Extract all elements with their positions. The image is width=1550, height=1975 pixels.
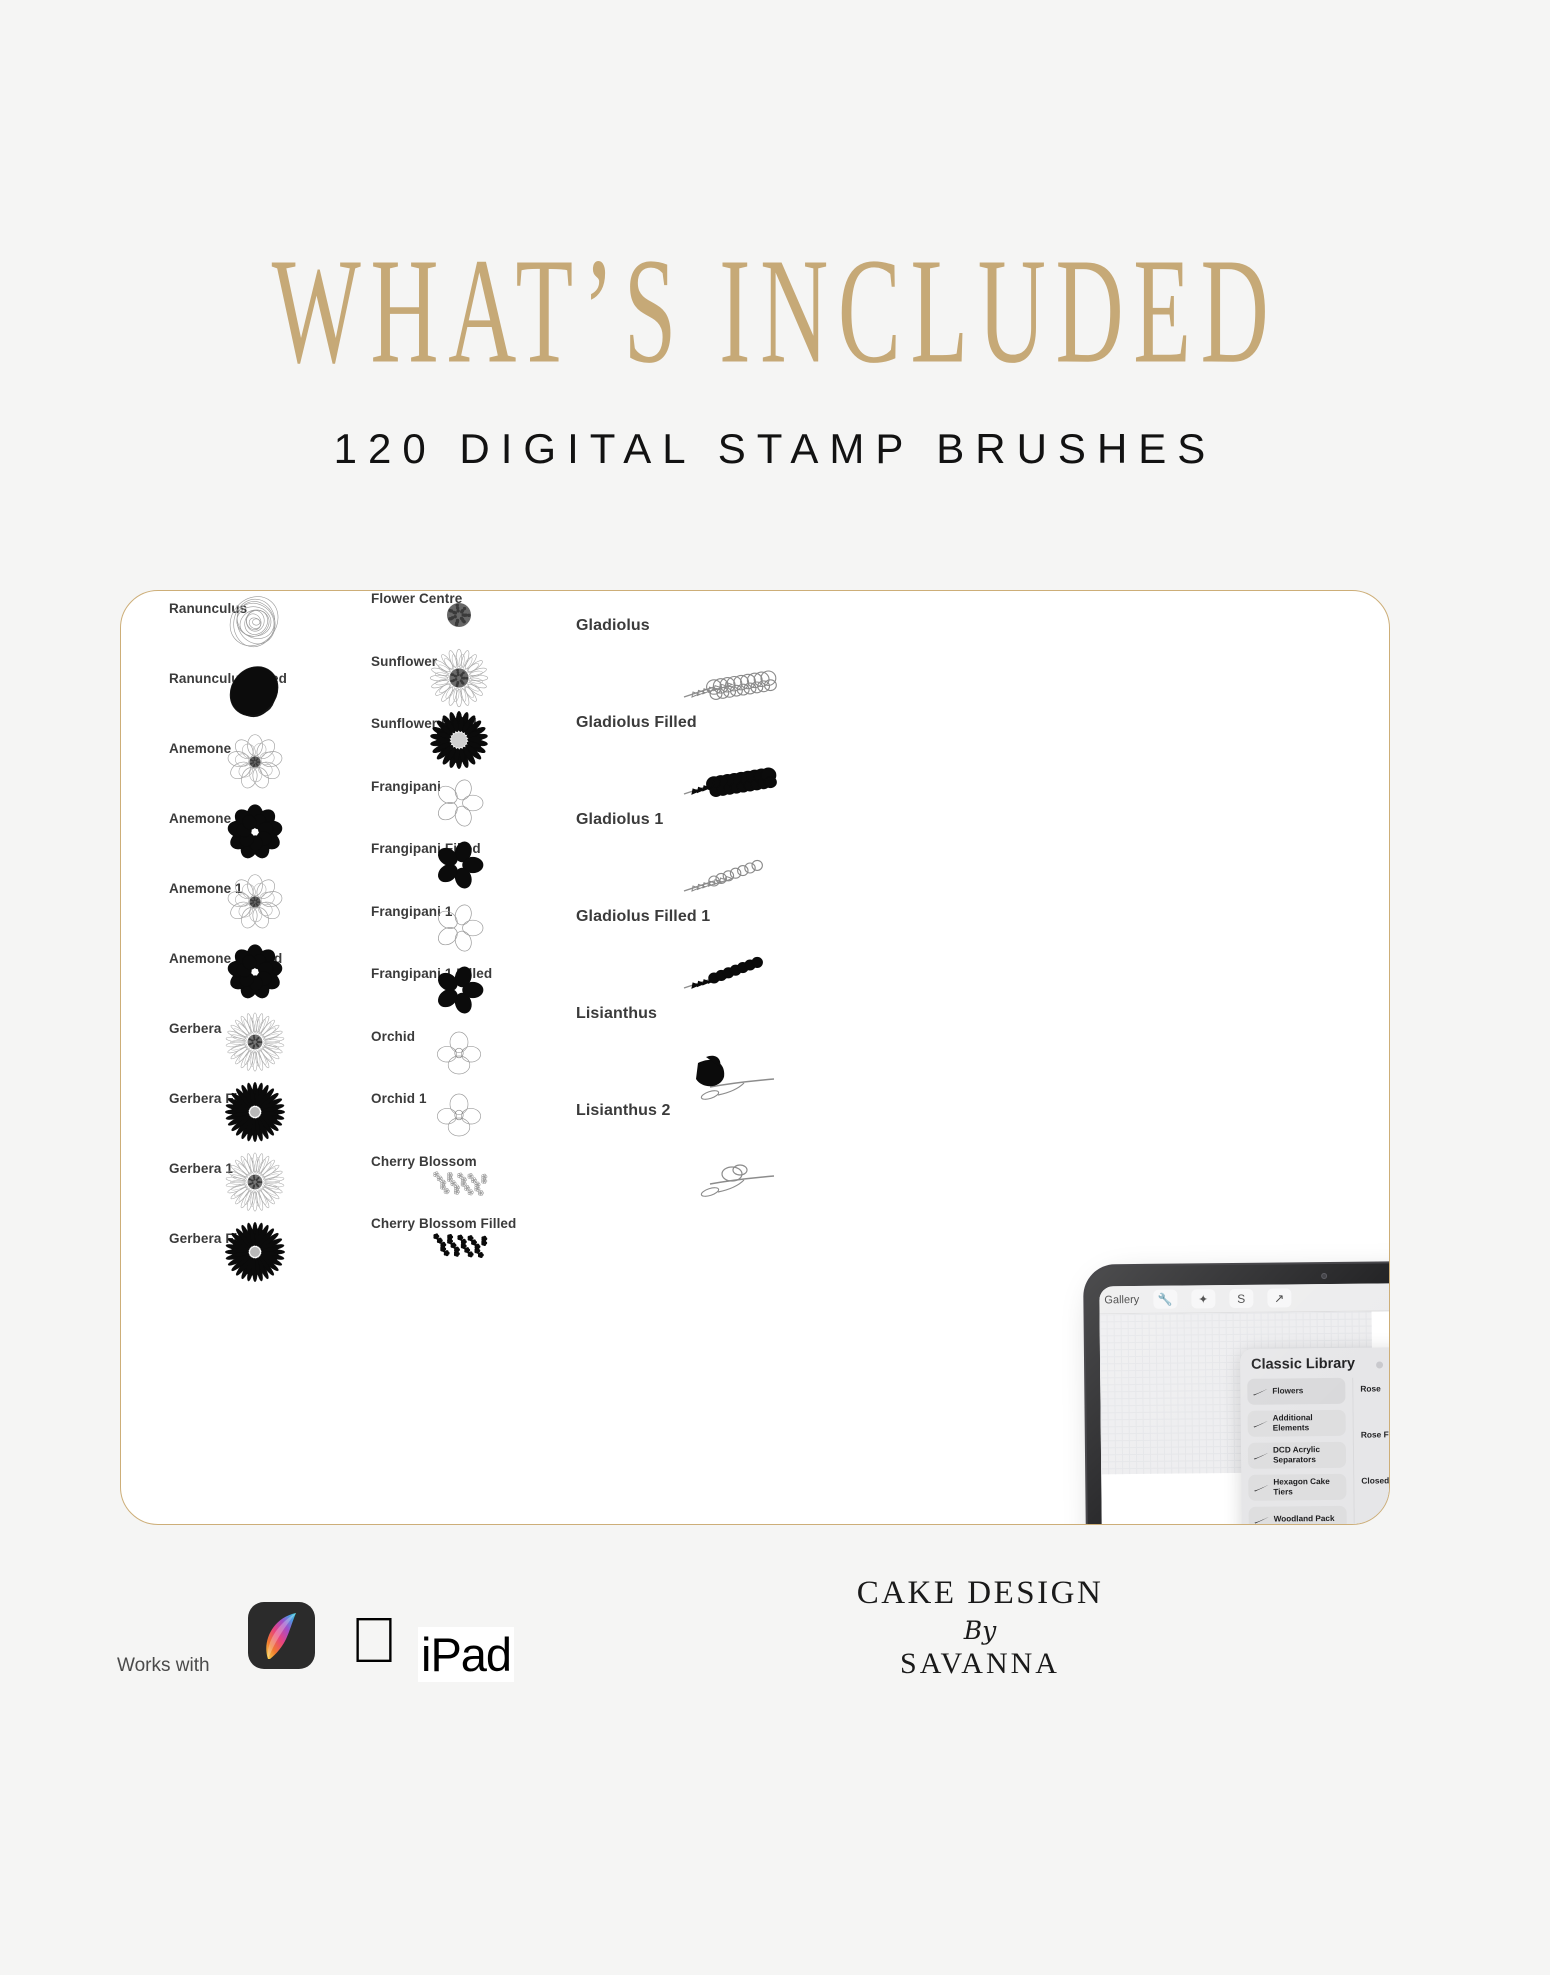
brush-stroke-icon <box>1253 1483 1269 1493</box>
catalog-item-preview <box>224 731 286 793</box>
brush-item-label: Rose <box>1360 1383 1381 1393</box>
catalog-item: Lisianthus <box>576 979 856 1076</box>
catalog-item: Flower Centre <box>371 591 566 654</box>
catalog-item: Orchid 1 <box>371 1091 566 1154</box>
brush-set-item[interactable]: Additional Elements <box>1248 1410 1346 1437</box>
selection-s-icon[interactable]: S <box>1229 1289 1253 1308</box>
catalog-item: Gerbera Filled <box>169 1081 359 1151</box>
page-title: WHAT’S INCLUDED <box>155 236 1395 387</box>
page-subtitle: 120 DIGITAL STAMP BRUSHES <box>0 425 1550 473</box>
catalog-item: Ranunculus <box>169 591 359 661</box>
catalog-item-label: Orchid <box>371 1029 415 1044</box>
catalog-column-3: GladiolusGladiolus FilledGladiolus 1Glad… <box>576 591 856 1173</box>
brush-item-label: Closed Peony Filled <box>1362 1521 1390 1525</box>
catalog-item-preview <box>429 590 489 645</box>
transform-arrow-icon[interactable]: ↗ <box>1267 1288 1291 1307</box>
catalog-item: Gerbera <box>169 1011 359 1081</box>
catalog-item: Frangipani 1 <box>371 904 566 967</box>
catalog-item-preview <box>429 1023 489 1083</box>
brand-line-1: CAKE DESIGN <box>830 1575 1130 1612</box>
catalog-item: Frangipani Filled <box>371 841 566 904</box>
catalog-item-preview <box>429 648 489 708</box>
catalog-item: Frangipani <box>371 779 566 842</box>
brush-preview-list[interactable]: RoseRose FilledClosed PeonyClosed Peony … <box>1352 1376 1390 1525</box>
ipad-body: Gallery 🔧 ✦ S ↗ ✏ ✍ ✎ ❐ <box>1085 1262 1390 1525</box>
brush-stroke-icon <box>1253 1451 1269 1461</box>
brush-item[interactable]: Rose <box>1353 1376 1390 1424</box>
catalog-item-label: Orchid 1 <box>371 1091 427 1106</box>
catalog-item-preview <box>429 1085 489 1145</box>
brush-catalog: RanunculusRanunculus FilledAnemoneAnemon… <box>121 591 1021 1525</box>
poster-page: WHAT’S INCLUDED 120 DIGITAL STAMP BRUSHE… <box>0 0 1550 1975</box>
catalog-item: Ranunculus Filled <box>169 661 359 731</box>
panel-header: Classic Library + <box>1240 1346 1390 1381</box>
catalog-item: Gerbera 1 <box>169 1151 359 1221</box>
wrench-icon[interactable]: 🔧 <box>1153 1290 1177 1309</box>
brush-set-item[interactable]: Woodland Pack <box>1249 1506 1347 1525</box>
catalog-item: Frangipani 1 Filled <box>371 966 566 1029</box>
catalog-item-label: Sunflower <box>371 654 437 669</box>
brush-item[interactable]: Rose Filled <box>1354 1422 1390 1470</box>
brush-item-label: Rose Filled <box>1361 1429 1390 1439</box>
catalog-item-label: Gladiolus <box>576 617 650 635</box>
gallery-button[interactable]: Gallery <box>1099 1293 1139 1305</box>
brush-stroke-icon <box>1252 1387 1268 1397</box>
catalog-column-1: RanunculusRanunculus FilledAnemoneAnemon… <box>169 591 359 1291</box>
panel-status-dot <box>1376 1361 1383 1368</box>
catalog-item-preview <box>224 661 286 723</box>
brand-line-2: By <box>830 1616 1130 1645</box>
catalog-item: Anemone <box>169 731 359 801</box>
catalog-item: Sunflower Filled <box>371 716 566 779</box>
catalog-item-preview <box>224 941 286 1003</box>
brush-set-label: Woodland Pack <box>1274 1514 1335 1524</box>
catalog-item-preview <box>224 1081 286 1143</box>
catalog-item: Gladiolus 1 <box>576 785 856 882</box>
catalog-column-2: Flower CentreSunflowerSunflower FilledFr… <box>371 591 566 1279</box>
catalog-item: Gladiolus Filled 1 <box>576 882 856 979</box>
catalog-item-label: Gladiolus Filled <box>576 714 697 732</box>
catalog-item-preview <box>429 835 489 895</box>
brand-logo: CAKE DESIGN By SAVANNA <box>830 1575 1130 1681</box>
catalog-item-preview <box>224 591 286 653</box>
brush-set-list[interactable]: FlowersAdditional ElementsDCD Acrylic Se… <box>1240 1378 1359 1525</box>
panel-columns: FlowersAdditional ElementsDCD Acrylic Se… <box>1240 1376 1390 1525</box>
apple-logo-icon:  <box>350 1608 398 1672</box>
brush-library-panel: Classic Library + FlowersAdditional Elem… <box>1240 1346 1390 1525</box>
catalog-item-preview <box>429 1148 489 1208</box>
catalog-item-label: Lisianthus 2 <box>576 1102 671 1120</box>
catalog-item-label: Gerbera <box>169 1021 221 1036</box>
procreate-canvas[interactable]: Classic Library + FlowersAdditional Elem… <box>1100 1310 1390 1525</box>
catalog-item-preview <box>224 1221 286 1283</box>
brush-set-item[interactable]: Flowers <box>1247 1378 1345 1405</box>
catalog-item: Gerbera Filled 1 <box>169 1221 359 1291</box>
brush-set-label: Additional Elements <box>1273 1413 1346 1433</box>
brush-item-label: Closed Peony <box>1361 1475 1390 1486</box>
brush-stroke-icon <box>1253 1419 1269 1429</box>
panel-title: Classic Library <box>1251 1356 1355 1373</box>
brush-set-label: Hexagon Cake Tiers <box>1273 1477 1346 1497</box>
camera-icon <box>1321 1273 1327 1279</box>
brand-line-3: SAVANNA <box>830 1647 1130 1681</box>
catalog-item-preview <box>224 801 286 863</box>
catalog-item-label: Gladiolus 1 <box>576 811 663 829</box>
catalog-item: Gladiolus Filled <box>576 688 856 785</box>
catalog-item-preview <box>224 1151 286 1213</box>
ipad-mockup: Gallery 🔧 ✦ S ↗ ✏ ✍ ✎ ❐ <box>1081 1246 1390 1525</box>
brush-set-label: Flowers <box>1272 1386 1303 1396</box>
catalog-item-preview <box>224 1011 286 1073</box>
brush-set-item[interactable]: Hexagon Cake Tiers <box>1248 1474 1346 1501</box>
catalog-item-preview <box>429 898 489 958</box>
catalog-item-preview <box>429 710 489 770</box>
catalog-item: Lisianthus 2 <box>576 1076 856 1173</box>
catalog-item-preview <box>429 960 489 1020</box>
catalog-item-preview <box>429 773 489 833</box>
catalog-item: Anemone 2 Filled <box>169 941 359 1011</box>
brush-item[interactable]: Closed Peony Filled <box>1355 1514 1390 1525</box>
brush-item[interactable]: Closed Peony <box>1354 1468 1390 1516</box>
catalog-item: Sunflower <box>371 654 566 717</box>
catalog-item-label: Anemone <box>169 741 231 756</box>
catalog-item: Cherry Blossom Filled <box>371 1216 566 1279</box>
procreate-toolbar: Gallery 🔧 ✦ S ↗ ✏ ✍ ✎ ❐ <box>1099 1282 1390 1315</box>
catalog-item: Gladiolus <box>576 591 856 688</box>
catalog-item-preview <box>224 871 286 933</box>
magic-wand-icon[interactable]: ✦ <box>1191 1289 1215 1308</box>
catalog-item-label: Gladiolus Filled 1 <box>576 908 710 926</box>
procreate-icon <box>248 1602 315 1669</box>
brush-stroke-icon <box>1254 1515 1270 1525</box>
brush-set-item[interactable]: DCD Acrylic Separators <box>1248 1442 1346 1469</box>
catalog-item: Cherry Blossom <box>371 1154 566 1217</box>
catalog-item: Orchid <box>371 1029 566 1092</box>
catalog-item-label: Lisianthus <box>576 1005 657 1023</box>
works-with-label: Works with <box>117 1655 210 1677</box>
catalog-item-preview <box>680 1120 780 1220</box>
ipad-wordmark: iPad <box>418 1627 514 1682</box>
ipad-screen: Gallery 🔧 ✦ S ↗ ✏ ✍ ✎ ❐ <box>1099 1282 1390 1525</box>
preview-card: RanunculusRanunculus FilledAnemoneAnemon… <box>120 590 1390 1525</box>
catalog-item: Anemone Filled <box>169 801 359 871</box>
catalog-item-preview <box>429 1210 489 1270</box>
brush-set-label: DCD Acrylic Separators <box>1273 1445 1346 1465</box>
catalog-item: Anemone 1 <box>169 871 359 941</box>
